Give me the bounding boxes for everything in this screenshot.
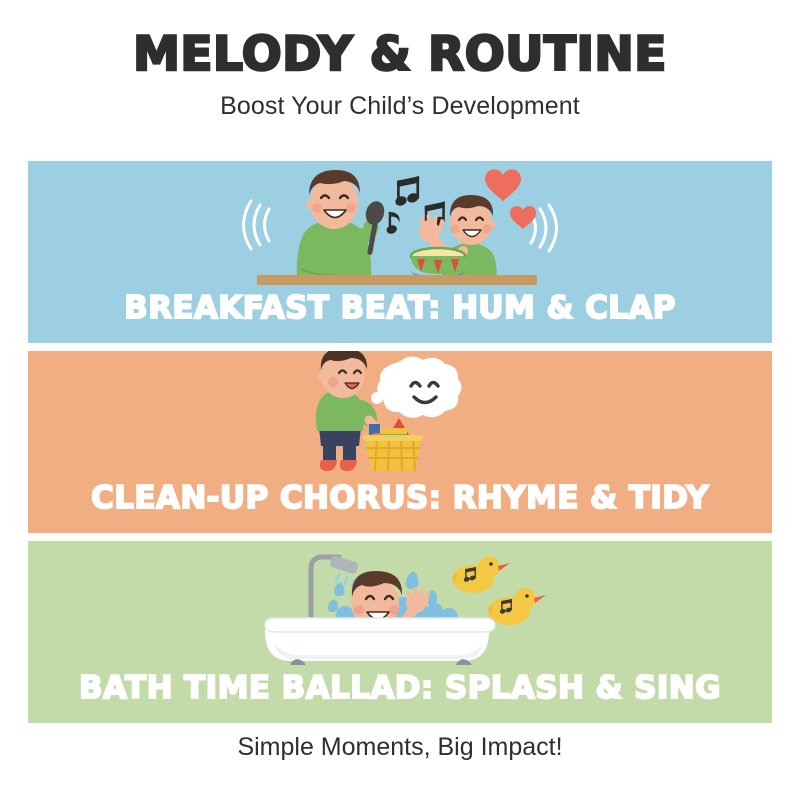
header: MELODY & ROUTINE Boost Your Child’s Deve… [0,0,800,121]
clawfoot-bathtub [265,618,495,665]
footer-tagline: Simple Moments, Big Impact! [0,733,800,762]
illustration-child-tidying-toys [28,355,772,475]
toy-basket [363,435,423,471]
banner-bath-time-ballad[interactable]: BATH TIME BALLAD: SPLASH & SING [28,541,772,723]
rubber-ducks [452,556,546,625]
sound-wave-arcs-left [244,201,270,249]
banner-label-clean-up-chorus: CLEAN-UP CHORUS: RHYME & TIDY [28,480,772,516]
banner-label-bath-time-ballad: BATH TIME BALLAD: SPLASH & SING [28,670,772,706]
page-subtitle: Boost Your Child’s Development [0,92,800,121]
illustration-parent-and-child-singing [28,165,772,285]
thought-cloud-with-smiley-face [363,356,462,417]
banner-breakfast-beat[interactable]: BREAKFAST BEAT: HUM & CLAP [28,161,772,343]
illustration-child-in-bathtub [28,545,772,665]
page-title: MELODY & ROUTINE [0,30,800,79]
hearts [485,169,536,229]
banner-list: BREAKFAST BEAT: HUM & CLAP [28,161,772,723]
wooden-table [257,275,537,285]
banner-label-breakfast-beat: BREAKFAST BEAT: HUM & CLAP [28,290,772,326]
adult-figure [297,170,387,283]
banner-clean-up-chorus[interactable]: CLEAN-UP CHORUS: RHYME & TIDY [28,351,772,533]
